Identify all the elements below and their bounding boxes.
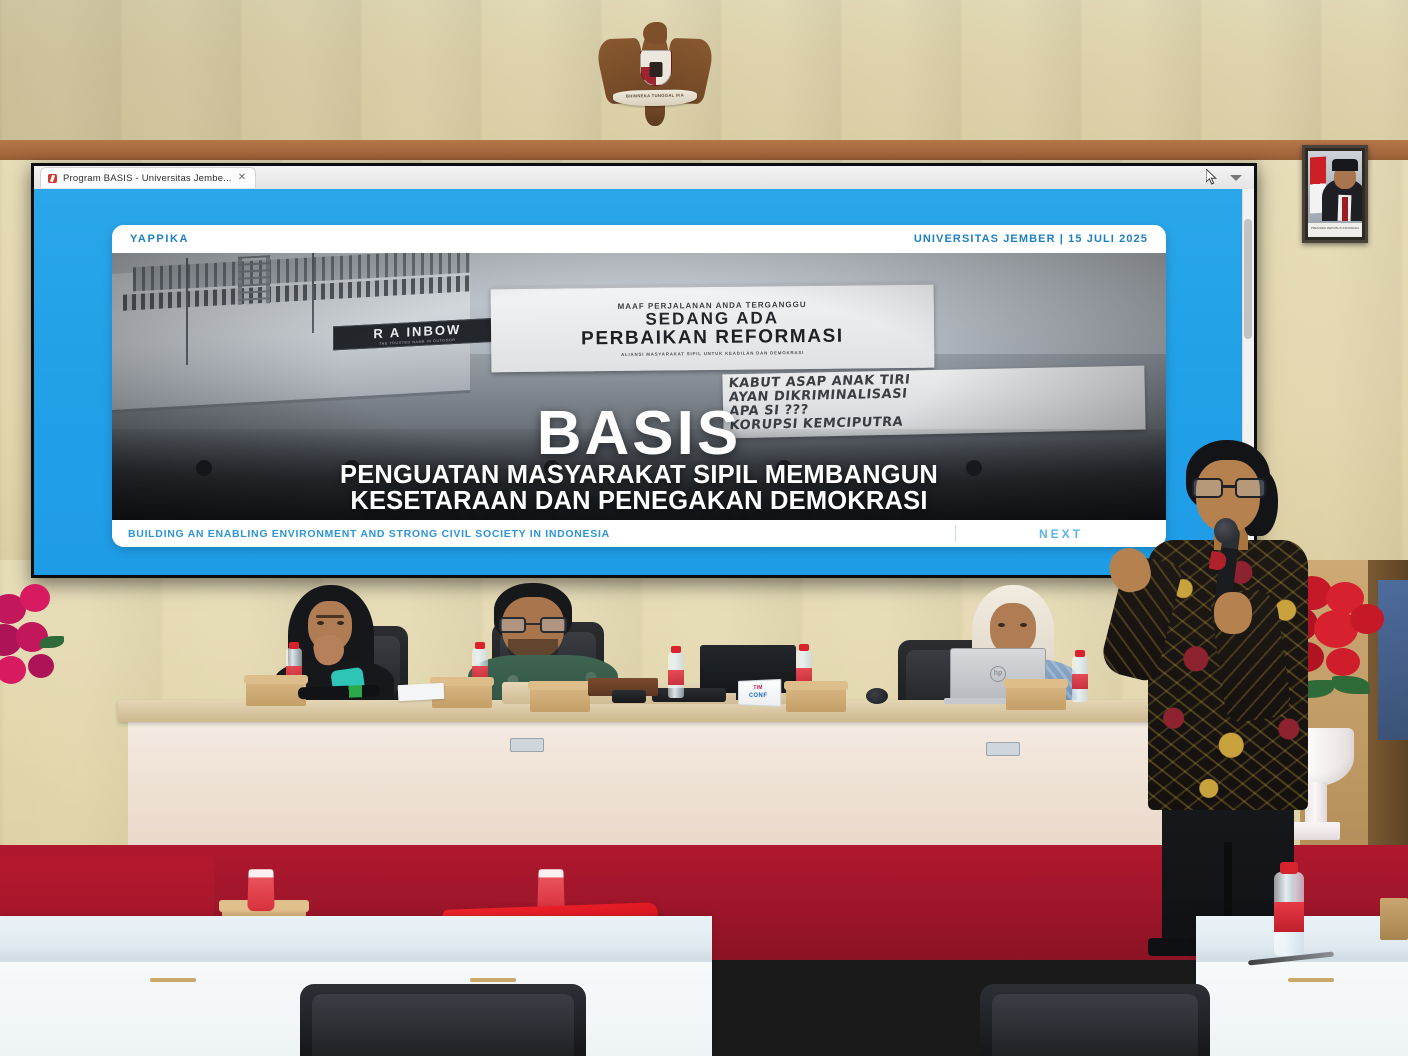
slide-brand: YAPPIKA [130, 233, 189, 245]
desk-plate [986, 742, 1020, 756]
browser-tab-bar: Program BASIS - Universitas Jembe... ✕ [34, 166, 1254, 189]
bookmark-favicon [48, 174, 57, 183]
snack-box [1006, 684, 1066, 710]
audience-chair [980, 984, 1210, 1056]
slide-header: YAPPIKA UNIVERSITAS JEMBER | 15 JULI 202… [112, 225, 1166, 253]
slide-viewport: YAPPIKA UNIVERSITAS JEMBER | 15 JULI 202… [34, 189, 1242, 575]
slide-meta: UNIVERSITAS JEMBER | 15 JULI 2025 [914, 233, 1148, 245]
auditorium-scene: BHINNEKA TUNGGAL IKA PRESIDEN REPUBLIK I… [0, 0, 1408, 1056]
slide-tagline: BUILDING AN ENABLING ENVIRONMENT AND STR… [112, 528, 955, 540]
mouse-cursor-icon [1206, 169, 1220, 185]
slide-title: BASIS [112, 405, 1166, 462]
table-microphone [866, 688, 888, 704]
garuda-pancasila-icon: BHINNEKA TUNGGAL IKA [601, 22, 709, 132]
red-paper-cup [247, 869, 275, 911]
phone [612, 690, 646, 703]
water-bottle [668, 652, 684, 698]
close-icon[interactable]: ✕ [238, 173, 246, 183]
table-tent-card: TIM CONF [738, 679, 781, 707]
snack-box [786, 686, 846, 712]
desk-plate [510, 738, 544, 752]
snack-box [246, 680, 306, 706]
panel-desk [118, 700, 1198, 860]
water-bottle-foreground [1274, 872, 1304, 956]
slide-subtitle-line-1: PENGUATAN MASYARAKAT SIPIL MEMBANGUN [112, 462, 1166, 488]
tentcard-line-2: CONF [739, 693, 780, 699]
eyeglasses-icon [1192, 478, 1266, 498]
official-portrait-frame: PRESIDEN REPUBLIK INDONESIA [1302, 145, 1368, 243]
slide-photo: R A INBOW THE TRUSTED NAME IN OUTDOOR MA… [112, 253, 1166, 520]
eyeglasses-icon [499, 617, 567, 633]
pink-flower-arrangement [0, 580, 106, 720]
wooden-box [1380, 898, 1408, 940]
slide-footer: BUILDING AN ENABLING ENVIRONMENT AND STR… [112, 520, 1166, 547]
slide-title-block: BASIS PENGUATAN MASYARAKAT SIPIL MEMBANG… [112, 405, 1166, 514]
portrait-caption: PRESIDEN REPUBLIK INDONESIA [1308, 223, 1362, 237]
emblem-motto: BHINNEKA TUNGGAL IKA [613, 92, 697, 98]
water-bottle [1072, 656, 1088, 702]
slide-card: YAPPIKA UNIVERSITAS JEMBER | 15 JULI 202… [112, 225, 1166, 547]
audience-chair [300, 984, 586, 1056]
scrollbar-thumb[interactable] [1244, 219, 1252, 339]
panel-keyboard[interactable] [652, 688, 726, 702]
papers [398, 683, 445, 701]
projection-screen: Program BASIS - Universitas Jembe... ✕ Y… [31, 163, 1257, 578]
slide-subtitle-line-2: KESETARAAN DAN PENEGAKAN DEMOKRASI [112, 488, 1166, 514]
browser-tab-title: Program BASIS - Universitas Jembe... [63, 173, 232, 184]
tentcard-line-1: TIM [739, 684, 780, 691]
chevron-down-icon[interactable] [1230, 175, 1242, 181]
snack-box [530, 686, 590, 712]
browser-tab[interactable]: Program BASIS - Universitas Jembe... ✕ [40, 167, 256, 188]
